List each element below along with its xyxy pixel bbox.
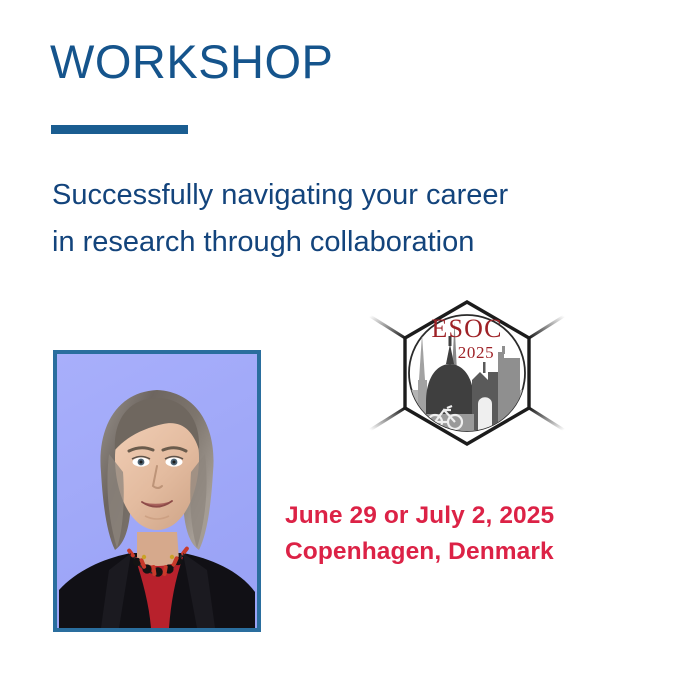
workshop-subtitle: Successfully navigating your career in r… (52, 172, 622, 266)
event-details: June 29 or July 2, 2025 Copenhagen, Denm… (285, 498, 554, 571)
title-accent-rule (51, 125, 188, 134)
logo-esoc-text: ESOC (431, 314, 502, 343)
esoc-logo-graphic: ESOC 2025 (352, 262, 582, 484)
subtitle-line-2: in research through collaboration (52, 219, 622, 266)
portrait-image (57, 354, 257, 628)
event-location: Copenhagen, Denmark (285, 534, 554, 570)
event-date: June 29 or July 2, 2025 (285, 498, 554, 534)
workshop-poster: WORKSHOP Successfully navigating your ca… (0, 0, 680, 680)
esoc-logo: ESOC 2025 (352, 262, 582, 484)
subtitle-line-1: Successfully navigating your career (52, 172, 622, 219)
speaker-portrait (53, 350, 261, 632)
logo-year-text: 2025 (458, 343, 494, 362)
page-title: WORKSHOP (50, 36, 333, 88)
